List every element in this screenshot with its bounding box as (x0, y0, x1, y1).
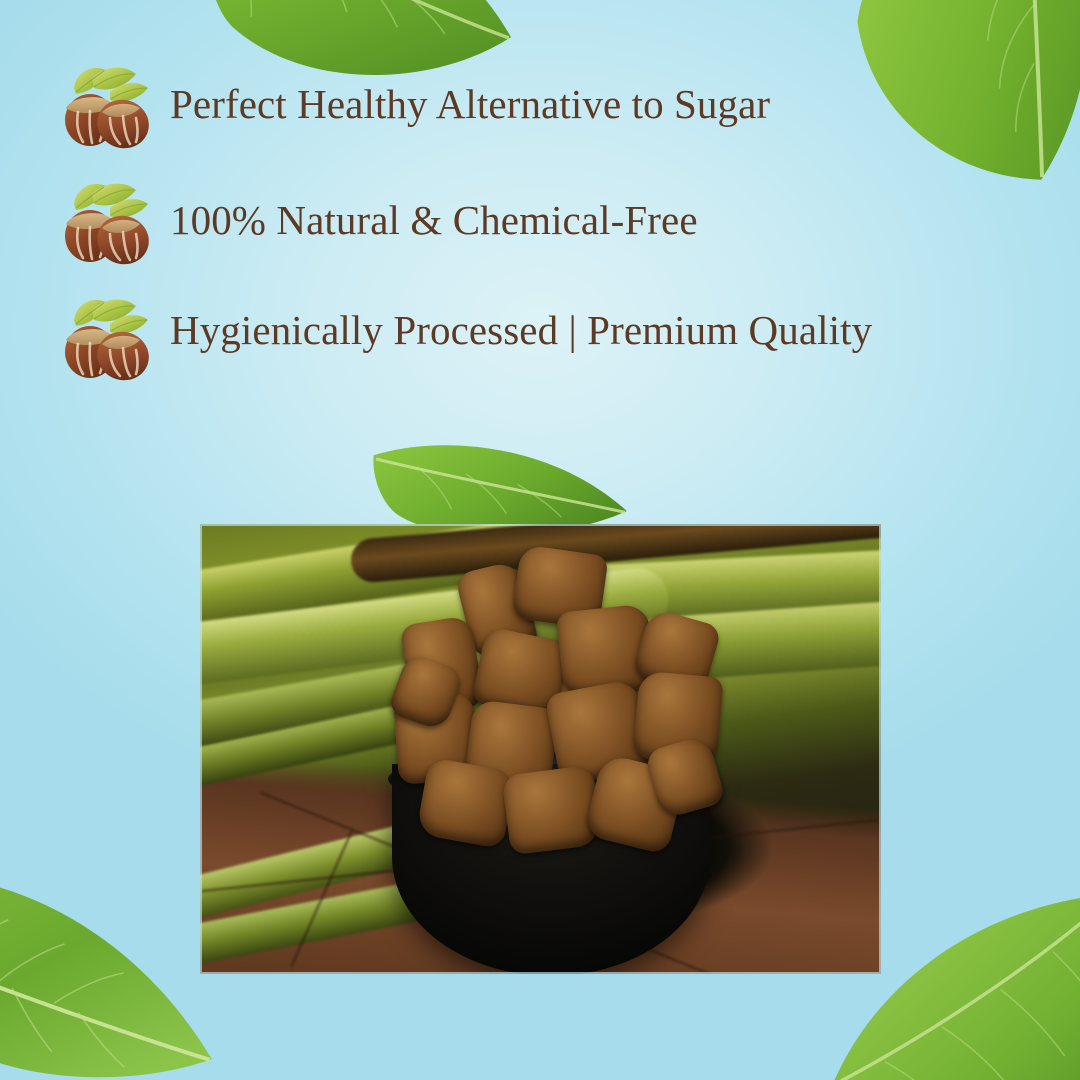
benefits-list: Perfect Healthy Alternative to Sugar (52, 62, 952, 410)
hazelnut-icon (52, 62, 156, 154)
jaggery-bowl-with-sugarcane-photo (200, 524, 881, 974)
list-item: Perfect Healthy Alternative to Sugar (52, 62, 952, 154)
list-item-label: Hygienically Processed | Premium Quality (170, 294, 872, 357)
list-item-label: 100% Natural & Chemical-Free (170, 178, 698, 247)
promo-banner: Perfect Healthy Alternative to Sugar (0, 0, 1080, 1080)
hazelnut-icon (52, 178, 156, 270)
list-item: Hygienically Processed | Premium Quality (52, 294, 952, 386)
list-item-label: Perfect Healthy Alternative to Sugar (170, 62, 770, 131)
hazelnut-icon (52, 294, 156, 386)
list-item: 100% Natural & Chemical-Free (52, 178, 952, 270)
